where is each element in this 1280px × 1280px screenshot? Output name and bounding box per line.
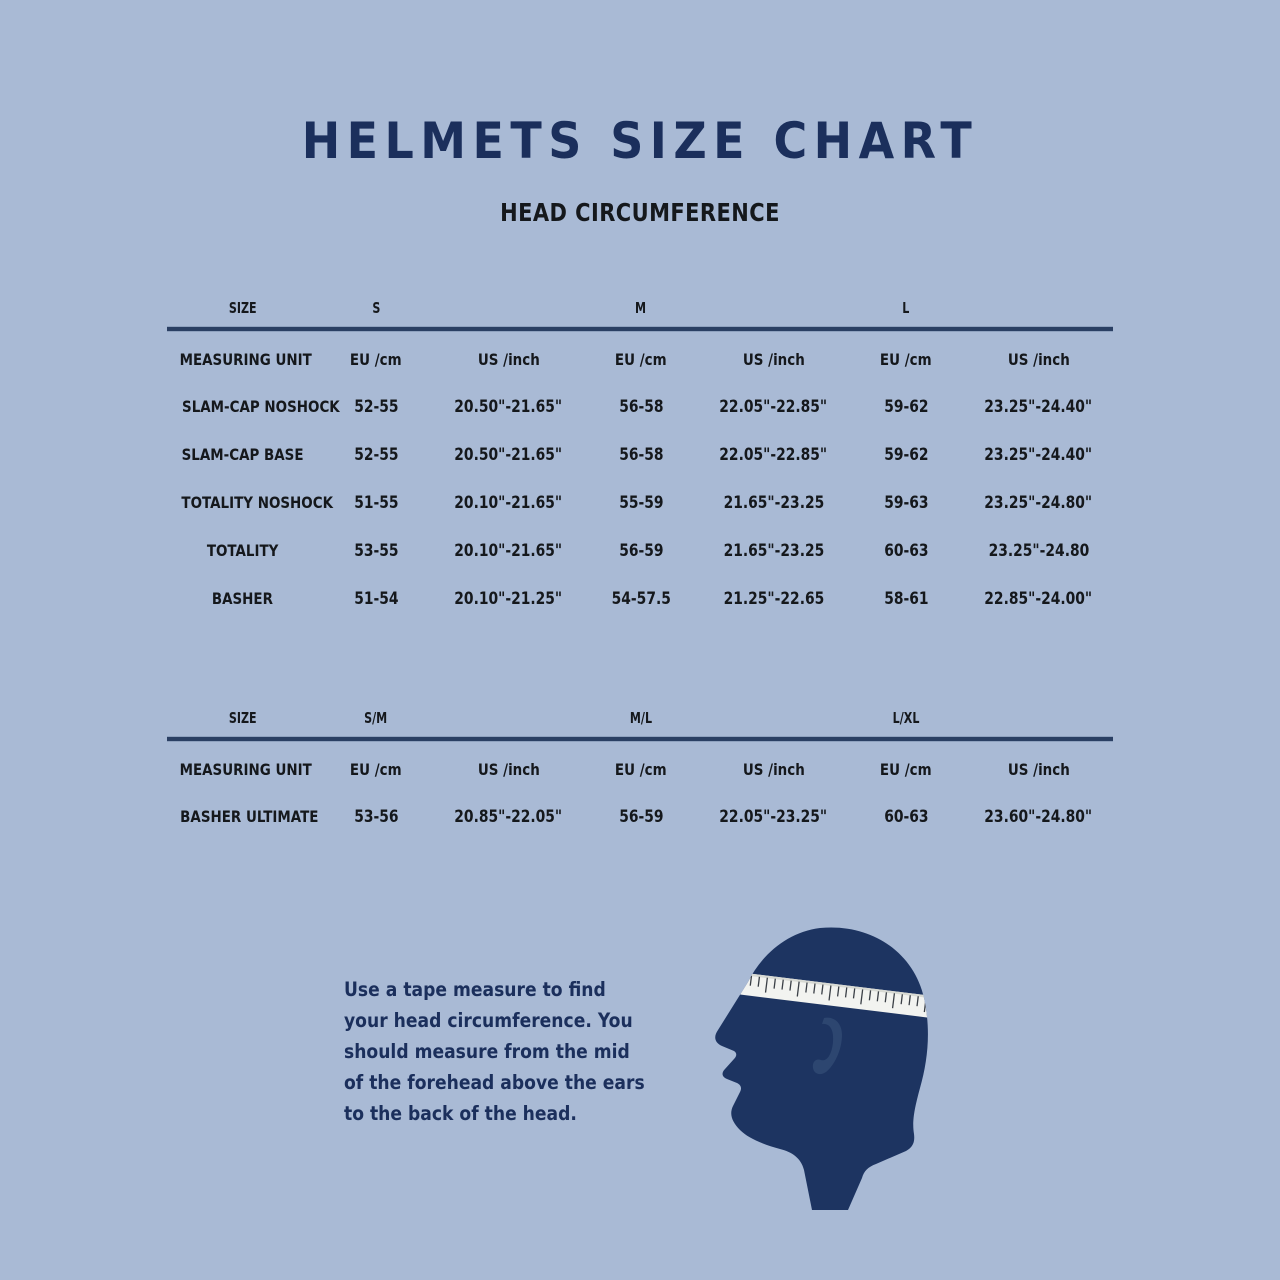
size-header-m: M xyxy=(591,294,691,322)
unit-m-us: US /inch xyxy=(699,336,848,382)
table-row: TOTALITY NOSHOCK 51-55 20.10"-21.65" 55-… xyxy=(167,478,1113,526)
table-row-size-headers: SIZE S/M M/L L/XL xyxy=(167,704,1113,732)
cell-m-us: 22.05"-22.85" xyxy=(699,430,848,478)
table-divider-cell xyxy=(167,322,1113,336)
table-divider-row xyxy=(167,322,1113,336)
cell-m-eu: 56-58 xyxy=(583,382,699,430)
divider-line xyxy=(167,326,1113,332)
row-label: TOTALITY NOSHOCK xyxy=(167,478,318,526)
table-row: BASHER ULTIMATE 53-56 20.85"-22.05" 56-5… xyxy=(167,792,1113,840)
size-chart-page: HELMETS SIZE CHART HEAD CIRCUMFERENCE SI… xyxy=(0,0,1280,1280)
cell-s-us: 20.10"-21.25" xyxy=(434,574,583,622)
head-silhouette-icon xyxy=(700,920,970,1210)
cell-s-eu: 52-55 xyxy=(318,430,434,478)
size-header-sm: S/M xyxy=(326,704,426,732)
size-header-spacer-2 xyxy=(709,294,837,322)
cell-ml-eu: 56-59 xyxy=(583,792,699,840)
cell-s-eu: 53-55 xyxy=(318,526,434,574)
row-label: BASHER xyxy=(167,574,318,622)
table-divider-row xyxy=(167,732,1113,746)
cell-m-eu: 54-57.5 xyxy=(583,574,699,622)
cell-m-us: 21.65"-23.25 xyxy=(699,526,848,574)
size-header-spacer-2 xyxy=(709,704,837,732)
size-header-spacer-1 xyxy=(444,704,572,732)
table-row-units: MEASURING UNIT EU /cm US /inch EU /cm US… xyxy=(167,746,1113,792)
cell-sm-us: 20.85"-22.05" xyxy=(434,792,583,840)
unit-row-label: MEASURING UNIT xyxy=(167,336,318,382)
unit-m-eu: EU /cm xyxy=(583,336,699,382)
row-label: BASHER ULTIMATE xyxy=(167,792,318,840)
cell-s-us: 20.10"-21.65" xyxy=(434,526,583,574)
unit-s-us: US /inch xyxy=(434,336,583,382)
size-table-primary-grid: SIZE S M L MEASURING UNIT EU /cm US /inc… xyxy=(167,294,1113,622)
cell-l-eu: 59-62 xyxy=(848,382,964,430)
size-table-secondary: SIZE S/M M/L L/XL MEASURING UNIT EU /cm … xyxy=(167,704,1113,840)
measuring-instructions: Use a tape measure to find your head cir… xyxy=(344,974,654,1129)
table-row: BASHER 51-54 20.10"-21.25" 54-57.5 21.25… xyxy=(167,574,1113,622)
unit-row-label: MEASURING UNIT xyxy=(167,746,318,792)
size-header-lxl: L/XL xyxy=(856,704,956,732)
unit-sm-us: US /inch xyxy=(434,746,583,792)
unit-l-eu: EU /cm xyxy=(848,336,964,382)
divider-line xyxy=(167,736,1113,742)
row-label: TOTALITY xyxy=(167,526,318,574)
table-row-units: MEASURING UNIT EU /cm US /inch EU /cm US… xyxy=(167,336,1113,382)
size-header-spacer-1 xyxy=(444,294,572,322)
cell-m-eu: 56-58 xyxy=(583,430,699,478)
cell-l-eu: 58-61 xyxy=(848,574,964,622)
cell-l-us: 23.25"-24.40" xyxy=(964,382,1113,430)
cell-sm-eu: 53-56 xyxy=(318,792,434,840)
unit-s-eu: EU /cm xyxy=(318,336,434,382)
cell-l-us: 23.25"-24.80 xyxy=(964,526,1113,574)
table-divider-cell xyxy=(167,732,1113,746)
unit-sm-eu: EU /cm xyxy=(318,746,434,792)
size-header-s: S xyxy=(326,294,426,322)
size-table-secondary-grid: SIZE S/M M/L L/XL MEASURING UNIT EU /cm … xyxy=(167,704,1113,840)
cell-ml-us: 22.05"-23.25" xyxy=(699,792,848,840)
cell-s-eu: 51-55 xyxy=(318,478,434,526)
cell-lxl-eu: 60-63 xyxy=(848,792,964,840)
size-table-primary: SIZE S M L MEASURING UNIT EU /cm US /inc… xyxy=(167,294,1113,622)
size-header-label: SIZE xyxy=(178,704,308,732)
unit-ml-us: US /inch xyxy=(699,746,848,792)
size-header-spacer-3 xyxy=(974,704,1102,732)
unit-l-us: US /inch xyxy=(964,336,1113,382)
unit-lxl-eu: EU /cm xyxy=(848,746,964,792)
unit-ml-eu: EU /cm xyxy=(583,746,699,792)
cell-l-eu: 60-63 xyxy=(848,526,964,574)
row-label: SLAM-CAP BASE xyxy=(167,430,318,478)
table-row-size-headers: SIZE S M L xyxy=(167,294,1113,322)
page-title: HELMETS SIZE CHART xyxy=(51,112,1229,170)
size-header-label: SIZE xyxy=(178,294,308,322)
cell-l-eu: 59-63 xyxy=(848,478,964,526)
cell-m-eu: 55-59 xyxy=(583,478,699,526)
cell-s-us: 20.50"-21.65" xyxy=(434,382,583,430)
cell-l-us: 23.25"-24.80" xyxy=(964,478,1113,526)
cell-s-us: 20.50"-21.65" xyxy=(434,430,583,478)
size-header-spacer-3 xyxy=(974,294,1102,322)
table-row: SLAM-CAP NOSHOCK 52-55 20.50"-21.65" 56-… xyxy=(167,382,1113,430)
unit-lxl-us: US /inch xyxy=(964,746,1113,792)
cell-m-us: 22.05"-22.85" xyxy=(699,382,848,430)
row-label: SLAM-CAP NOSHOCK xyxy=(167,382,318,430)
cell-lxl-us: 23.60"-24.80" xyxy=(964,792,1113,840)
page-subtitle: HEAD CIRCUMFERENCE xyxy=(102,198,1177,227)
cell-l-us: 22.85"-24.00" xyxy=(964,574,1113,622)
size-header-ml: M/L xyxy=(591,704,691,732)
table-row: TOTALITY 53-55 20.10"-21.65" 56-59 21.65… xyxy=(167,526,1113,574)
cell-m-us: 21.25"-22.65 xyxy=(699,574,848,622)
cell-s-us: 20.10"-21.65" xyxy=(434,478,583,526)
cell-l-us: 23.25"-24.40" xyxy=(964,430,1113,478)
table-row: SLAM-CAP BASE 52-55 20.50"-21.65" 56-58 … xyxy=(167,430,1113,478)
size-header-l: L xyxy=(856,294,956,322)
cell-m-us: 21.65"-23.25 xyxy=(699,478,848,526)
cell-s-eu: 51-54 xyxy=(318,574,434,622)
cell-l-eu: 59-62 xyxy=(848,430,964,478)
cell-m-eu: 56-59 xyxy=(583,526,699,574)
